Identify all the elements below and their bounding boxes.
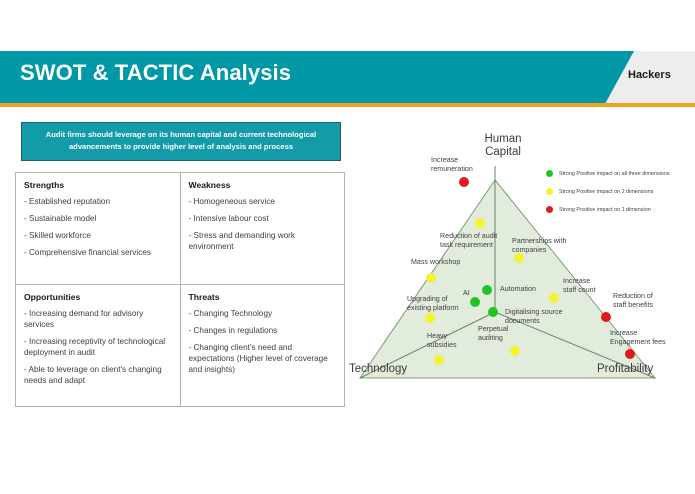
list-item: - Intensive labour cost (189, 214, 337, 225)
list-item: - Increasing demand for advisory service… (24, 309, 172, 331)
list-item: - Homogeneous service (189, 197, 337, 208)
data-point-dot[interactable] (475, 218, 485, 228)
legend-label: Strong Positive impact on all three dime… (559, 171, 670, 177)
data-point-label: Upgrading of existing platform (407, 295, 459, 312)
legend-row[interactable]: Strong Positive impact on 2 dimensions (546, 184, 695, 199)
data-point-dot[interactable] (549, 293, 559, 303)
data-point-dot[interactable] (425, 313, 435, 323)
legend-swatch-icon (546, 170, 553, 177)
quadrant-list-strengths: - Established reputation - Sustainable m… (24, 197, 172, 259)
swot-cell-strengths: Strengths - Established reputation - Sus… (16, 172, 181, 284)
list-item: - Increasing receptivity of technologica… (24, 337, 172, 359)
list-item: - Changing Technology (189, 309, 337, 320)
legend-row[interactable]: Strong Positive impact on all three dime… (546, 166, 695, 181)
slide-header: SWOT & TACTIC Analysis Hackers (0, 51, 695, 103)
brand-label: Hackers (628, 69, 671, 81)
swot-cell-weakness: Weakness - Homogeneous service - Intensi… (180, 172, 345, 284)
data-point-label: Heavy subsidies (427, 332, 457, 349)
list-item: - Able to leverage on client's changing … (24, 365, 172, 387)
vertex-label-technology: Technology (349, 363, 407, 376)
list-item: - Sustainable model (24, 214, 172, 225)
swot-column: Audit firms should leverage on its human… (15, 122, 345, 407)
legend-row[interactable]: Strong Positive impact on 1 dimension (546, 202, 695, 217)
quadrant-list-threats: - Changing Technology - Changes in regul… (189, 309, 337, 376)
list-item: - Skilled workforce (24, 231, 172, 242)
data-point-label: Mass workshop (411, 258, 460, 267)
data-point-dot[interactable] (510, 346, 520, 356)
data-point-dot[interactable] (426, 273, 436, 283)
quadrant-title-weakness: Weakness (189, 180, 337, 192)
swot-cell-opportunities: Opportunities - Increasing demand for ad… (16, 284, 181, 406)
data-point-label: Increase remuneration (431, 156, 473, 173)
legend-swatch-icon (546, 206, 553, 213)
data-point-label: Automation (500, 285, 536, 294)
header-orange-rule (0, 103, 695, 107)
data-point-dot[interactable] (470, 297, 480, 307)
quadrant-list-weakness: - Homogeneous service - Intensive labour… (189, 197, 337, 253)
vertex-label-human-capital: Human Capital (473, 133, 533, 159)
swot-cell-threats: Threats - Changing Technology - Changes … (180, 284, 345, 406)
data-point-dot[interactable] (434, 355, 444, 365)
swot-table: Strengths - Established reputation - Sus… (15, 172, 345, 407)
data-point-dot[interactable] (482, 285, 492, 295)
insight-banner: Audit firms should leverage on its human… (21, 122, 341, 161)
list-item: - Comprehensive financial services (24, 248, 172, 259)
data-point-label: AI (463, 289, 470, 298)
quadrant-title-strengths: Strengths (24, 180, 172, 192)
data-point-dot[interactable] (514, 253, 524, 263)
data-point-label: Reduction of staff benefits (613, 292, 653, 309)
list-item: - Changes in regulations (189, 326, 337, 337)
data-point-label: Increase Engagement fees (610, 329, 666, 346)
data-point-dot[interactable] (459, 177, 469, 187)
table-row: Opportunities - Increasing demand for ad… (16, 284, 345, 406)
data-point-dot[interactable] (488, 307, 498, 317)
legend-label: Strong Positive impact on 2 dimensions (559, 189, 653, 195)
data-point-label: Increase staff count (563, 277, 596, 294)
data-point-label: Reduction of audit task requirement (440, 232, 497, 249)
list-item: - Established reputation (24, 197, 172, 208)
list-item: - Changing client's need and expectation… (189, 343, 337, 376)
legend-label: Strong Positive impact on 1 dimension (559, 207, 651, 213)
data-point-dot[interactable] (601, 312, 611, 322)
data-point-label: Digitalising source documents (505, 308, 563, 325)
data-point-label: Perpetual auditing (478, 325, 508, 342)
table-row: Strengths - Established reputation - Sus… (16, 172, 345, 284)
quadrant-title-threats: Threats (189, 292, 337, 304)
vertex-label-profitability: Profitability (597, 363, 653, 376)
page-title: SWOT & TACTIC Analysis (20, 60, 291, 86)
quadrant-title-opportunities: Opportunities (24, 292, 172, 304)
data-point-dot[interactable] (625, 349, 635, 359)
chart-legend: Strong Positive impact on all three dime… (546, 166, 695, 220)
list-item: - Stress and demanding work environment (189, 231, 337, 253)
quadrant-list-opportunities: - Increasing demand for advisory service… (24, 309, 172, 387)
legend-swatch-icon (546, 188, 553, 195)
tactic-triangle-chart: Human Capital Technology Profitability I… (345, 120, 695, 410)
data-point-label: Partnerships with companies (512, 237, 566, 254)
